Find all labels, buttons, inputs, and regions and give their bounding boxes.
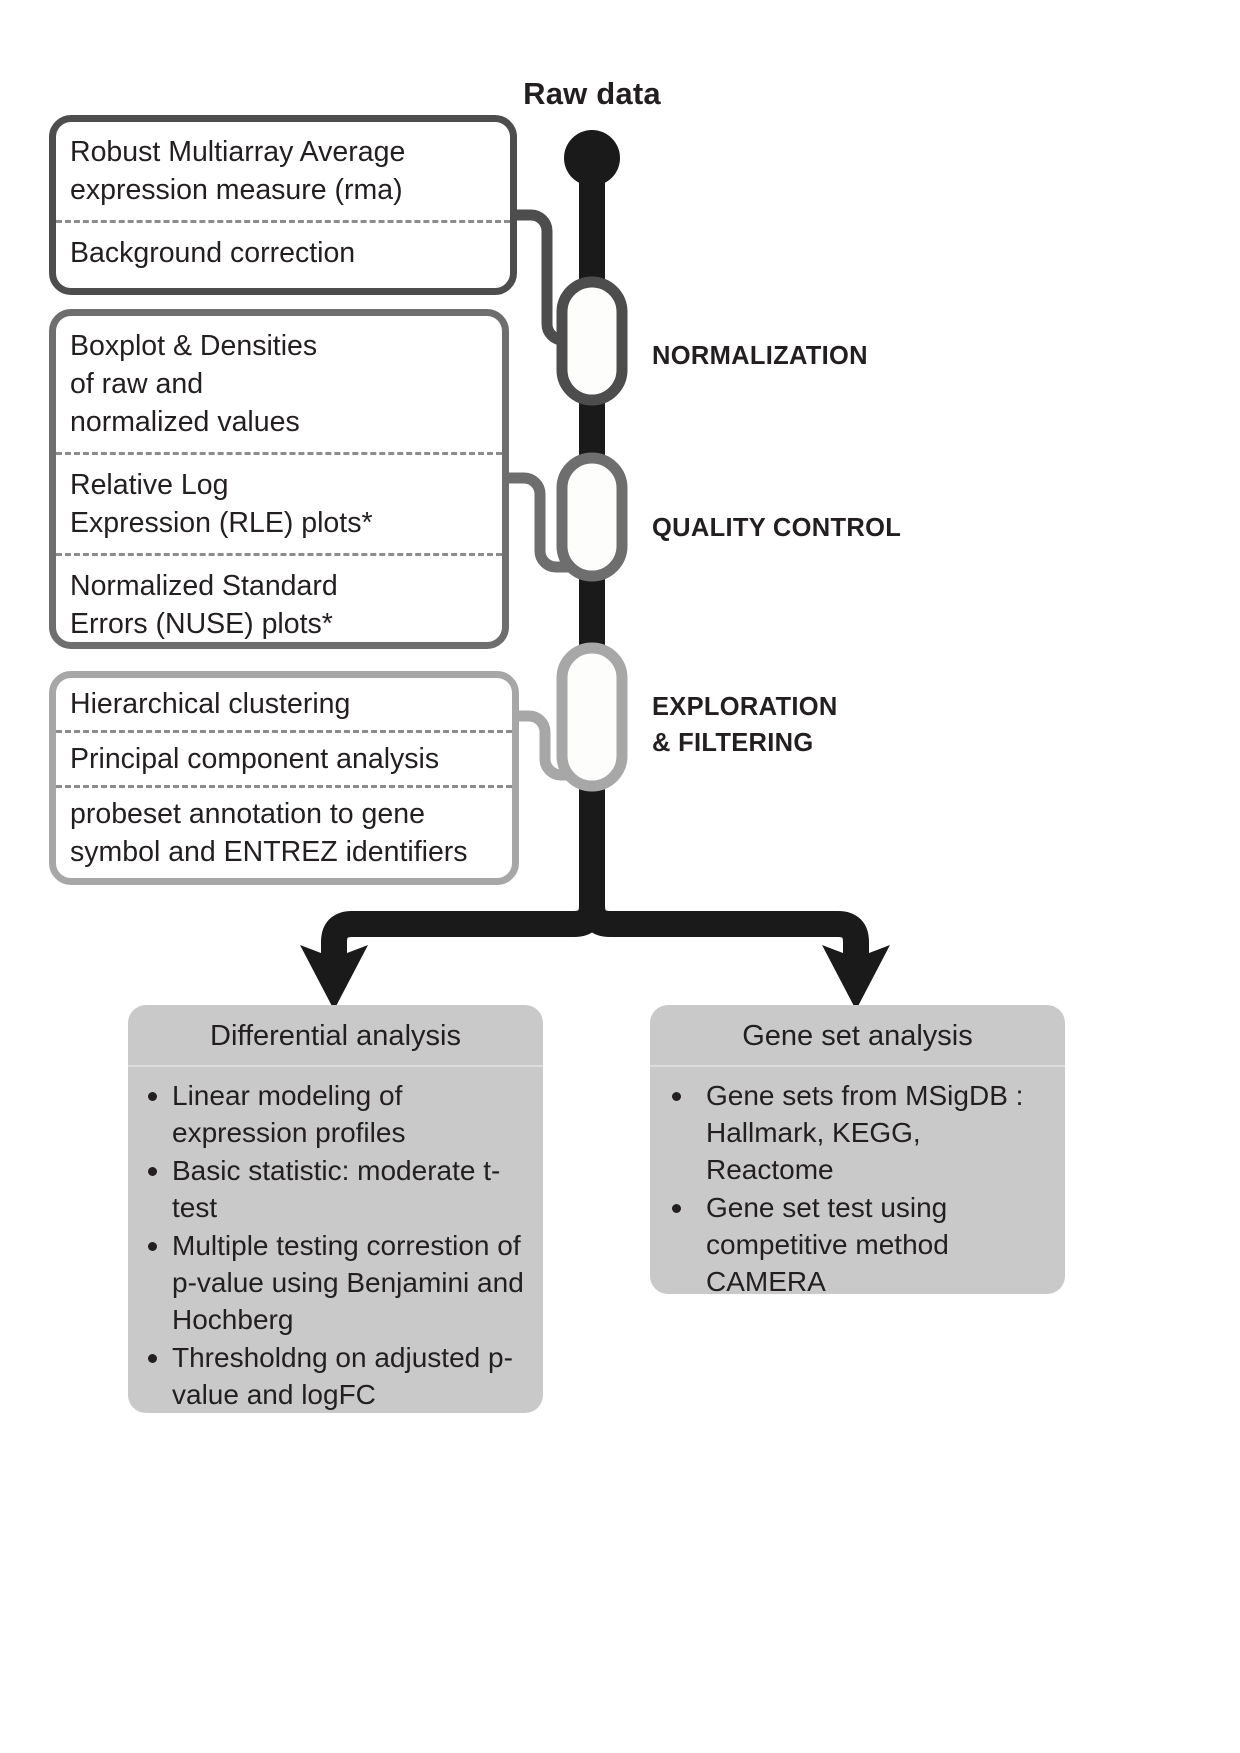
list-item-label: Gene sets from MSigDB : Hallmark, KEGG, … — [706, 1080, 1023, 1185]
step-item-nuse-plots: Normalized Standard Errors (NUSE) plots* — [56, 553, 502, 654]
step-item-boxplot-densities: Boxplot & Densities of raw and normalize… — [56, 316, 502, 452]
fork-right-branch — [592, 906, 856, 960]
step-line: Relative Log — [70, 466, 492, 504]
stage-label-exploration-filtering: EXPLORATION & FILTERING — [652, 689, 952, 761]
list-item: Basic statistic: moderate t-test — [142, 1152, 531, 1226]
stage-label-normalization: NORMALIZATION — [652, 338, 868, 374]
step-item-rma: Robust Multiarray Average expression mea… — [56, 122, 510, 220]
step-line: Principal component analysis — [70, 740, 502, 778]
step-line: expression measure (rma) — [70, 171, 500, 209]
step-line: Background correction — [70, 234, 500, 272]
list-item-label: Linear modeling of expression profiles — [172, 1080, 405, 1148]
stage-label-line: EXPLORATION — [652, 689, 952, 725]
list-item: Multiple testing correstion of p-value u… — [142, 1227, 531, 1338]
bullet-dot-icon — [148, 1242, 157, 1251]
list-item-label: Basic statistic: moderate t-test — [172, 1155, 500, 1223]
list-item: Gene sets from MSigDB : Hallmark, KEGG, … — [664, 1077, 1053, 1188]
step-line: probeset annotation to gene — [70, 795, 502, 833]
step-line: normalized values — [70, 403, 492, 441]
bullet-dot-icon — [148, 1354, 157, 1363]
step-line: Expression (RLE) plots* — [70, 504, 492, 542]
fork-arrows — [334, 898, 856, 960]
bullet-dot-icon — [148, 1167, 157, 1176]
step-box-normalization: Robust Multiarray Average expression mea… — [49, 115, 517, 295]
bullet-dot-icon — [148, 1092, 157, 1101]
step-item-background-correction: Background correction — [56, 220, 510, 283]
page-title: Raw data — [452, 76, 732, 112]
list-item-label: Gene set test using competitive method C… — [706, 1192, 949, 1297]
panel-gene-set-analysis: Gene set analysis Gene sets from MSigDB … — [650, 1005, 1065, 1294]
step-item-rle-plots: Relative Log Expression (RLE) plots* — [56, 452, 502, 553]
step-line: Robust Multiarray Average — [70, 133, 500, 171]
capsule-quality-control — [562, 458, 622, 576]
step-item-hierarchical-clustering: Hierarchical clustering — [56, 678, 512, 730]
raw-data-node — [564, 130, 620, 186]
spine-segment-qc-expl — [579, 570, 605, 650]
panel-title: Gene set analysis — [650, 1005, 1065, 1067]
panel-bullet-list: Linear modeling of expression profiles B… — [128, 1067, 543, 1430]
step-line: Boxplot & Densities — [70, 327, 492, 365]
bullet-dot-icon — [672, 1204, 681, 1213]
list-item: Linear modeling of expression profiles — [142, 1077, 531, 1151]
spine-segment-bottom — [579, 775, 605, 905]
fork-left-branch — [334, 898, 592, 960]
step-item-pca: Principal component analysis — [56, 730, 512, 785]
capsule-exploration — [562, 648, 622, 786]
panel-bullet-list: Gene sets from MSigDB : Hallmark, KEGG, … — [650, 1067, 1065, 1317]
step-line: Errors (NUSE) plots* — [70, 605, 492, 643]
step-line: Hierarchical clustering — [70, 685, 502, 723]
bullet-dot-icon — [672, 1092, 681, 1101]
step-box-quality-control: Boxplot & Densities of raw and normalize… — [49, 309, 509, 649]
step-box-exploration-filtering: Hierarchical clustering Principal compon… — [49, 671, 519, 885]
panel-title: Differential analysis — [128, 1005, 543, 1067]
step-item-probeset-annotation: probeset annotation to gene symbol and E… — [56, 785, 512, 878]
step-line: of raw and — [70, 365, 492, 403]
stage-label-line: & FILTERING — [652, 725, 952, 761]
list-item: Thresholdng on adjusted p-value and logF… — [142, 1339, 531, 1413]
step-line: Normalized Standard — [70, 567, 492, 605]
list-item-label: Thresholdng on adjusted p-value and logF… — [172, 1342, 513, 1410]
capsule-normalization — [562, 282, 622, 400]
stage-label-quality-control: QUALITY CONTROL — [652, 510, 901, 546]
list-item: Gene set test using competitive method C… — [664, 1189, 1053, 1300]
panel-differential-analysis: Differential analysis Linear modeling of… — [128, 1005, 543, 1413]
list-item-label: Multiple testing correstion of p-value u… — [172, 1230, 524, 1335]
step-line: symbol and ENTREZ identifiers — [70, 833, 502, 871]
